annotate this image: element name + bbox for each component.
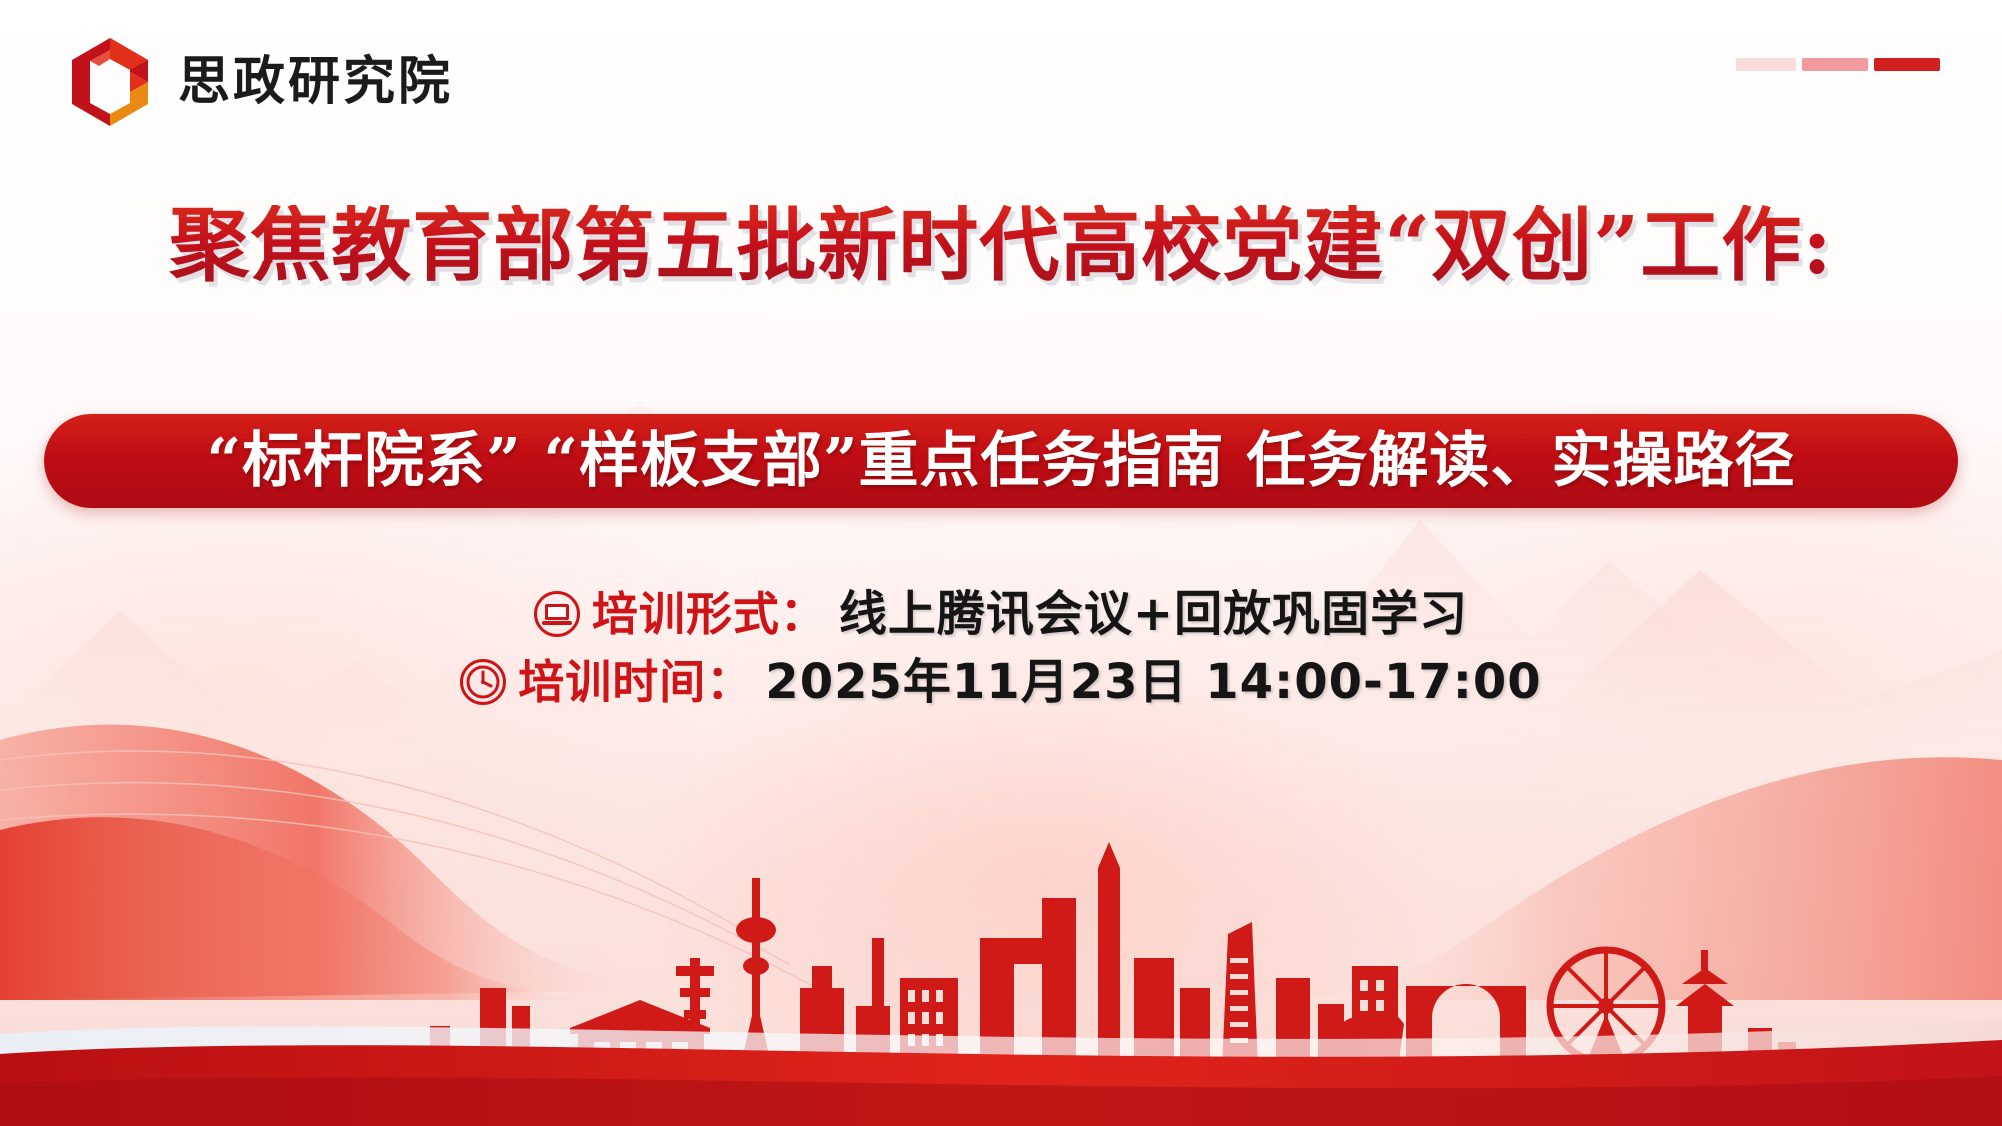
info-label-time: 培训时间： xyxy=(518,659,753,705)
info-label-format: 培训形式： xyxy=(592,591,827,637)
hexagon-logo-icon xyxy=(68,36,152,128)
page-title: 聚焦教育部第五批新时代高校党建“双创”工作: xyxy=(0,205,2002,285)
poster-header: 思政研究院 xyxy=(0,0,2002,160)
clock-icon xyxy=(460,659,506,705)
brand-logo: 思政研究院 xyxy=(68,36,453,128)
corner-bar-light xyxy=(1736,58,1796,71)
info-block: 培训形式： 线上腾讯会议+回放巩固学习 培训时间： 2025年11月23日 14… xyxy=(0,590,2002,706)
info-value-time: 2025年11月23日 14:00-17:00 xyxy=(765,658,1541,706)
corner-bar-mid xyxy=(1802,58,1868,71)
poster-canvas: 思政研究院 聚焦教育部第五批新时代高校党建“双创”工作: “标杆院系” “样板支… xyxy=(0,0,2002,1126)
bottom-red-bands xyxy=(0,1006,2002,1126)
subtitle-banner: “标杆院系” “样板支部”重点任务指南 任务解读、实操路径 xyxy=(44,414,1958,508)
corner-bar-strong xyxy=(1874,58,1940,71)
info-value-format: 线上腾讯会议+回放巩固学习 xyxy=(839,590,1468,638)
corner-decoration xyxy=(1736,58,1940,71)
info-row-format: 培训形式： 线上腾讯会议+回放巩固学习 xyxy=(534,590,1468,638)
brand-name: 思政研究院 xyxy=(178,56,453,108)
subtitle-banner-text: “标杆院系” “样板支部”重点任务指南 任务解读、实操路径 xyxy=(207,431,1796,491)
info-row-time: 培训时间： 2025年11月23日 14:00-17:00 xyxy=(460,658,1541,706)
monitor-icon xyxy=(534,591,580,637)
